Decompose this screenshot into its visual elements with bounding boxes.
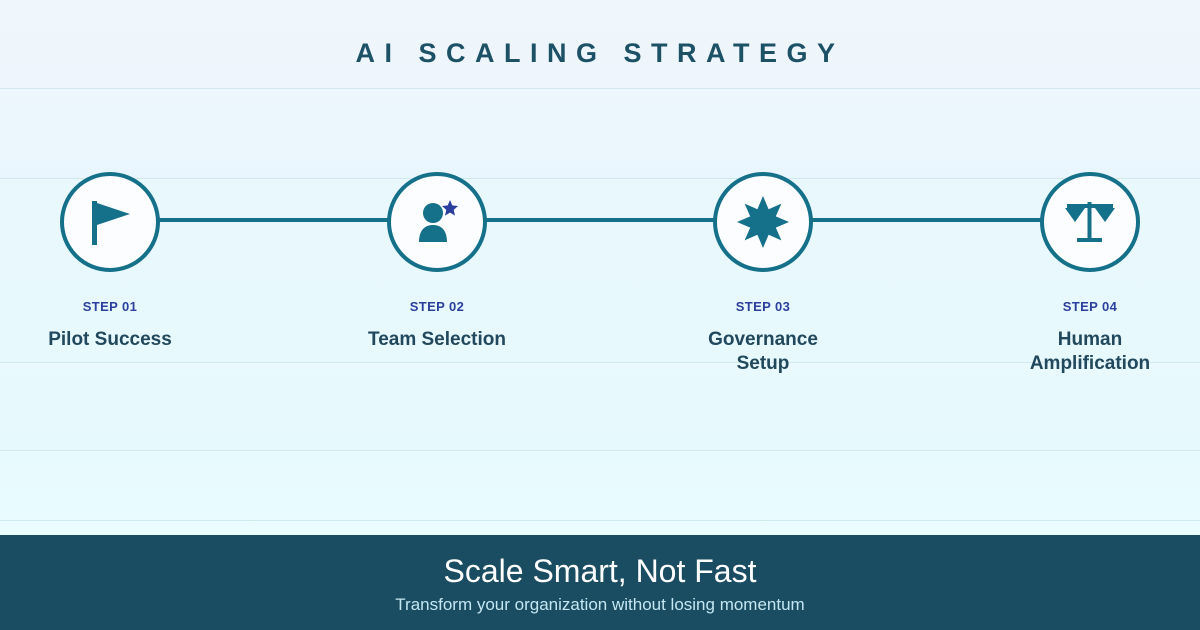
step-item-1[interactable]: STEP 01 Pilot Success: [0, 172, 220, 352]
step-number-3: STEP 03: [653, 299, 873, 314]
background-band-divider: [0, 88, 1200, 89]
step-item-2[interactable]: STEP 02 Team Selection: [327, 172, 547, 352]
step-item-3[interactable]: STEP 03 Governance Setup: [653, 172, 873, 376]
footer-title: Scale Smart, Not Fast: [0, 552, 1200, 590]
infographic-canvas: AI SCALING STRATEGY STEP 01 Pilot Succes…: [0, 0, 1200, 630]
step-icon-circle-3: [713, 172, 813, 272]
step-title-3: Governance Setup: [653, 328, 873, 376]
step-title-1: Pilot Success: [0, 328, 220, 352]
step-icon-circle-2: [387, 172, 487, 272]
step-number-4: STEP 04: [980, 299, 1200, 314]
step-item-4[interactable]: STEP 04 Human Amplification: [980, 172, 1200, 376]
step-icon-circle-1: [60, 172, 160, 272]
eight-point-star-icon: [736, 195, 790, 249]
balance-scales-icon: [1062, 196, 1118, 248]
step-number-1: STEP 01: [0, 299, 220, 314]
flag-icon: [86, 197, 134, 247]
step-number-2: STEP 02: [327, 299, 547, 314]
person-star-icon: [411, 196, 463, 248]
footer-banner: Scale Smart, Not Fast Transform your org…: [0, 535, 1200, 630]
step-title-2: Team Selection: [327, 328, 547, 352]
steps-timeline: STEP 01 Pilot Success STEP 02 Team Selec…: [0, 172, 1200, 402]
background-band-divider: [0, 520, 1200, 521]
footer-subtitle: Transform your organization without losi…: [0, 594, 1200, 616]
background-band-divider: [0, 450, 1200, 451]
page-title: AI SCALING STRATEGY: [0, 38, 1200, 69]
step-title-4: Human Amplification: [980, 328, 1200, 376]
step-icon-circle-4: [1040, 172, 1140, 272]
